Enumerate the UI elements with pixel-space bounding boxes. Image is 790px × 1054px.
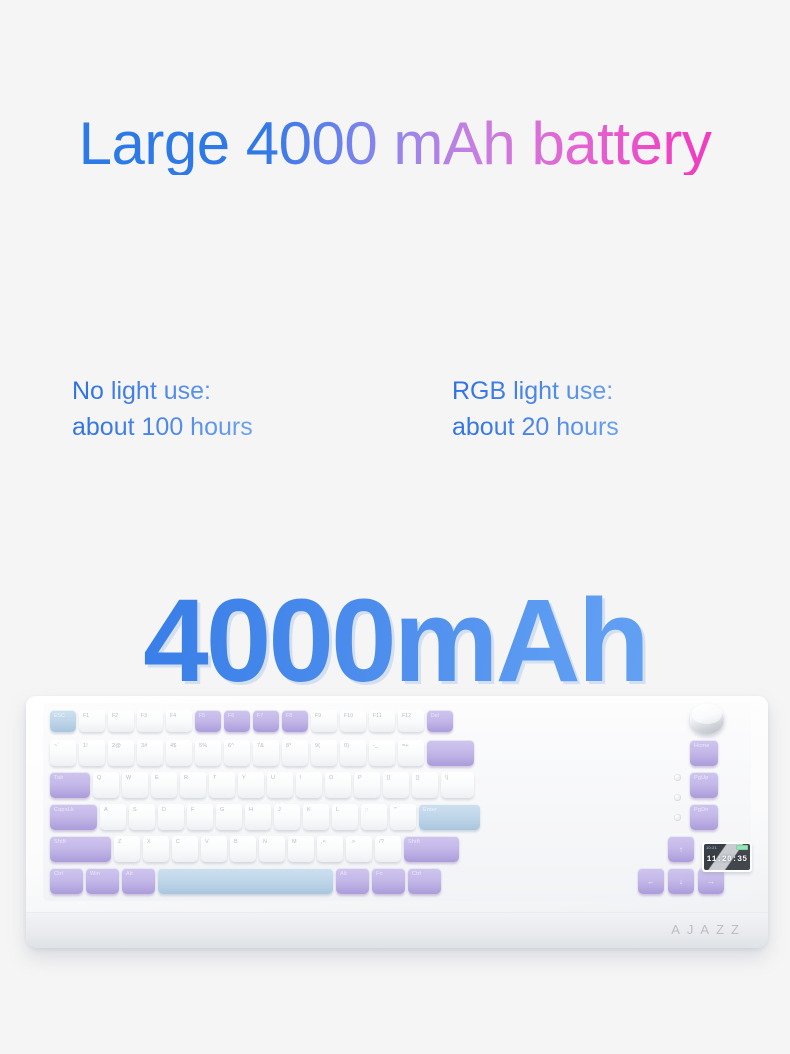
key-legend: Fn: [376, 871, 383, 877]
key-legend: F2: [112, 713, 118, 719]
key-legend: 1!: [83, 743, 88, 749]
key-legend: F4: [170, 713, 176, 719]
key-9[interactable]: 9(: [311, 740, 337, 766]
key-c[interactable]: C: [172, 836, 198, 862]
key-u[interactable]: U: [267, 772, 293, 798]
key-7[interactable]: 7&: [253, 740, 279, 766]
rotary-knob-icon[interactable]: [690, 704, 724, 734]
key-6[interactable]: 6^: [224, 740, 250, 766]
key-a[interactable]: A: [100, 804, 126, 830]
key-blank[interactable]: [{: [383, 772, 409, 798]
key-legend: ~`: [54, 743, 59, 749]
key-t[interactable]: T: [209, 772, 235, 798]
key-f[interactable]: F: [187, 804, 213, 830]
key-legend: /?: [379, 839, 384, 845]
key-m[interactable]: M: [288, 836, 314, 862]
key-z[interactable]: Z: [114, 836, 140, 862]
key-blank[interactable]: /?: [375, 836, 401, 862]
key-legend: 5%: [199, 743, 207, 749]
key-y[interactable]: Y: [238, 772, 264, 798]
key-legend: Q: [97, 775, 101, 781]
key-legend: F7: [257, 713, 263, 719]
key-g[interactable]: G: [216, 804, 242, 830]
key-f10[interactable]: F10: [340, 710, 366, 732]
key-legend: Alt: [340, 871, 347, 877]
key-legend: F: [191, 807, 195, 813]
key-0[interactable]: 0): [340, 740, 366, 766]
key-legend: ,<: [321, 839, 326, 845]
brand-logo: AJAZZ: [671, 922, 746, 937]
key-blank[interactable]: ~`: [50, 740, 76, 766]
lcd-status-label: 10:21: [706, 845, 717, 850]
key-legend: F10: [344, 713, 353, 719]
key-legend: Enter: [423, 807, 437, 813]
key-p[interactable]: P: [354, 772, 380, 798]
key-fn[interactable]: Fn: [372, 868, 405, 894]
key-x[interactable]: X: [143, 836, 169, 862]
key-legend: T: [213, 775, 217, 781]
usage-no-light-label: No light use:: [72, 374, 253, 410]
key-legend: 4$: [170, 743, 177, 749]
key-legend: 9(: [315, 743, 320, 749]
key-legend: 2@: [112, 743, 121, 749]
key-legend: X: [147, 839, 151, 845]
key-blank[interactable]: ,<: [317, 836, 343, 862]
key-shift[interactable]: Shift: [404, 836, 459, 862]
arrow-down-key[interactable]: ↓: [668, 868, 694, 894]
key-legend: Y: [242, 775, 246, 781]
lcd-status-bar: 10:21: [704, 845, 750, 850]
key-legend: Shift: [54, 839, 66, 845]
key-legend: CapsLk: [54, 807, 74, 813]
lcd-inner: 10:21 11:20:35: [704, 844, 750, 870]
key-f2[interactable]: F2: [108, 710, 134, 732]
key-legend: 3#: [141, 743, 148, 749]
keyboard-front-bezel: AJAZZ: [26, 912, 768, 948]
capacity-value: 4000mAh: [0, 582, 790, 700]
key-legend: ]}: [416, 775, 420, 781]
key-pgup[interactable]: PgUp: [690, 772, 718, 798]
key-legend: Home: [694, 743, 709, 749]
key-legend: PgDn: [694, 807, 709, 813]
key-legend: Del: [431, 713, 439, 719]
key-legend: G: [220, 807, 224, 813]
key-legend: F6: [228, 713, 234, 719]
key-8[interactable]: 8*: [282, 740, 308, 766]
key-home[interactable]: Home: [690, 740, 718, 766]
key-legend: O: [329, 775, 333, 781]
key-legend: K: [307, 807, 311, 813]
key-r[interactable]: R: [180, 772, 206, 798]
key-legend: R: [184, 775, 188, 781]
key-legend: Shift: [408, 839, 420, 845]
key-legend: U: [271, 775, 275, 781]
key-legend: N: [263, 839, 267, 845]
key-legend: D: [162, 807, 166, 813]
key-f8[interactable]: F8: [282, 710, 308, 732]
key-blank[interactable]: -_: [369, 740, 395, 766]
key-v[interactable]: V: [201, 836, 227, 862]
key-f3[interactable]: F3: [137, 710, 163, 732]
key-blank[interactable]: [158, 868, 333, 894]
key-2[interactable]: 2@: [108, 740, 134, 766]
key-4[interactable]: 4$: [166, 740, 192, 766]
key-e[interactable]: E: [151, 772, 177, 798]
key-1[interactable]: 1!: [79, 740, 105, 766]
key-legend: V: [205, 839, 209, 845]
key-w[interactable]: W: [122, 772, 148, 798]
keyboard-row-modifier: CtrlWinAltAltFnCtrl: [50, 868, 441, 894]
bluetooth-led-icon: [674, 794, 681, 801]
keyboard-product-image: ESCF1F2F3F4F5F6F7F8F9F10F11F12Del ~`1!2@…: [26, 696, 768, 948]
key-legend: J: [278, 807, 281, 813]
key-alt[interactable]: Alt: [336, 868, 369, 894]
key-f9[interactable]: F9: [311, 710, 337, 732]
usage-rgb-light-value: about 20 hours: [452, 410, 619, 446]
key-legend: \|: [445, 775, 448, 781]
keyboard-row-bottom-alpha: ShiftZXCVBNM,<.>/?Shift: [50, 836, 459, 862]
key-blank[interactable]: .>: [346, 836, 372, 862]
key-legend: S: [133, 807, 137, 813]
key-tab[interactable]: Tab: [50, 772, 90, 798]
key-legend: Z: [118, 839, 122, 845]
key-blank[interactable]: ]}: [412, 772, 438, 798]
arrow-up-key[interactable]: ↑: [668, 836, 694, 862]
key-o[interactable]: O: [325, 772, 351, 798]
key-legend: F12: [402, 713, 411, 719]
key-i[interactable]: I: [296, 772, 322, 798]
keyboard-row-number: ~`1!2@3#4$5%6^7&8*9(0)-_=+: [50, 740, 474, 766]
usage-rgb-light: RGB light use: about 20 hours: [452, 374, 619, 445]
indicator-led-group: [674, 774, 681, 821]
key-blank[interactable]: ;:: [361, 804, 387, 830]
key-legend: ESC: [54, 713, 65, 719]
key-ctrl[interactable]: Ctrl: [408, 868, 441, 894]
key-legend: E: [155, 775, 159, 781]
key-legend: C: [176, 839, 180, 845]
key-blank[interactable]: \|: [441, 772, 474, 798]
key-legend: [{: [387, 775, 391, 781]
key-alt[interactable]: Alt: [122, 868, 155, 894]
key-ctrl[interactable]: Ctrl: [50, 868, 83, 894]
key-legend: I: [300, 775, 302, 781]
key-5[interactable]: 5%: [195, 740, 221, 766]
key-f7[interactable]: F7: [253, 710, 279, 732]
battery-icon: [736, 845, 748, 850]
key-3[interactable]: 3#: [137, 740, 163, 766]
caps-lock-led-icon: [674, 774, 681, 781]
key-legend: F9: [315, 713, 321, 719]
key-legend: F11: [373, 713, 382, 719]
key-legend: F5: [199, 713, 205, 719]
key-legend: Win: [90, 871, 100, 877]
key-f6[interactable]: F6: [224, 710, 250, 732]
product-banner: Large 4000 mAh battery No light use: abo…: [0, 0, 790, 1054]
key-shift[interactable]: Shift: [50, 836, 111, 862]
page-title: Large 4000 mAh battery: [0, 112, 790, 175]
key-legend: P: [358, 775, 362, 781]
key-f5[interactable]: F5: [195, 710, 221, 732]
battery-life-summary: No light use: about 100 hours RGB light …: [0, 374, 790, 474]
keyboard-row-qwerty: TabQWERTYUIOP[{]}\|: [50, 772, 474, 798]
key-f4[interactable]: F4: [166, 710, 192, 732]
key-esc[interactable]: ESC: [50, 710, 76, 732]
key-f12[interactable]: F12: [398, 710, 424, 732]
lcd-clock: 11:20:35: [704, 855, 750, 864]
key-legend: 0): [344, 743, 349, 749]
key-s[interactable]: S: [129, 804, 155, 830]
key-win[interactable]: Win: [86, 868, 119, 894]
usage-no-light: No light use: about 100 hours: [72, 374, 253, 445]
key-k[interactable]: K: [303, 804, 329, 830]
key-legend: ;:: [365, 807, 368, 813]
key-legend: 8*: [286, 743, 292, 749]
arrow-left-key[interactable]: ←: [638, 868, 664, 894]
key-legend: -_: [373, 743, 378, 749]
key-legend: Ctrl: [54, 871, 63, 877]
key-f1[interactable]: F1: [79, 710, 105, 732]
key-f11[interactable]: F11: [369, 710, 395, 732]
keyboard-row-home: CapsLkASDFGHJKL;:'"Enter: [50, 804, 480, 830]
key-h[interactable]: H: [245, 804, 271, 830]
key-legend: 6^: [228, 743, 234, 749]
key-n[interactable]: N: [259, 836, 285, 862]
key-legend: F1: [83, 713, 89, 719]
key-legend: .>: [350, 839, 355, 845]
keyboard-row-function: ESCF1F2F3F4F5F6F7F8F9F10F11F12Del: [50, 710, 453, 732]
key-legend: PgUp: [694, 775, 709, 781]
key-q[interactable]: Q: [93, 772, 119, 798]
key-d[interactable]: D: [158, 804, 184, 830]
key-legend: 7&: [257, 743, 264, 749]
key-legend: A: [104, 807, 108, 813]
key-legend: '": [394, 807, 397, 813]
key-legend: L: [336, 807, 339, 813]
key-legend: Tab: [54, 775, 63, 781]
usage-no-light-value: about 100 hours: [72, 410, 253, 446]
key-pgdn[interactable]: PgDn: [690, 804, 718, 830]
usage-rgb-light-label: RGB light use:: [452, 374, 619, 410]
keyboard-lcd-screen[interactable]: 10:21 11:20:35: [702, 842, 752, 872]
key-legend: =+: [402, 743, 409, 749]
key-capslk[interactable]: CapsLk: [50, 804, 97, 830]
keyboard-case: ESCF1F2F3F4F5F6F7F8F9F10F11F12Del ~`1!2@…: [26, 696, 768, 948]
battery-led-icon: [674, 814, 681, 821]
key-legend: B: [234, 839, 238, 845]
key-del[interactable]: Del: [427, 710, 453, 732]
key-enter[interactable]: Enter: [419, 804, 480, 830]
key-legend: F3: [141, 713, 147, 719]
key-blank[interactable]: [427, 740, 474, 766]
key-j[interactable]: J: [274, 804, 300, 830]
key-legend: Alt: [126, 871, 133, 877]
key-l[interactable]: L: [332, 804, 358, 830]
key-legend: H: [249, 807, 253, 813]
keyboard-nav-column: HomePgUpPgDn: [690, 740, 718, 830]
key-b[interactable]: B: [230, 836, 256, 862]
key-blank[interactable]: '": [390, 804, 416, 830]
key-blank[interactable]: =+: [398, 740, 424, 766]
key-legend: Ctrl: [412, 871, 421, 877]
key-legend: W: [126, 775, 131, 781]
key-legend: M: [292, 839, 297, 845]
key-legend: F8: [286, 713, 292, 719]
